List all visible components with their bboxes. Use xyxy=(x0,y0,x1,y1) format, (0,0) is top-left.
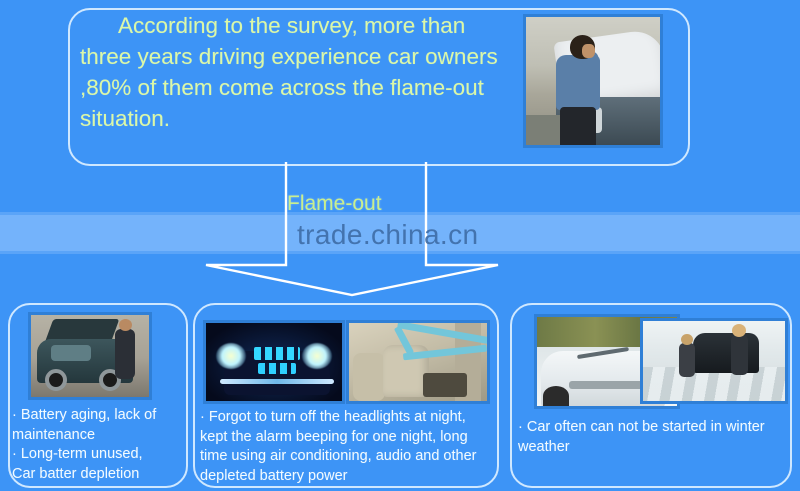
man-at-open-car-hood-photo xyxy=(523,14,663,148)
people-pushing-car-in-snow-photo xyxy=(640,318,788,404)
flame-out-label: Flame-out xyxy=(287,192,382,216)
page-title: According to the survey, more than three… xyxy=(80,10,510,134)
car-headlights-at-night-photo xyxy=(203,320,345,404)
mechanic-inspecting-suv-photo xyxy=(28,312,152,400)
slide-canvas: According to the survey, more than three… xyxy=(0,0,800,491)
cause-text-headlights-left-on: · Forgot to turn off the headlights at n… xyxy=(200,408,496,486)
cause-line: · Battery aging, lack of maintenance xyxy=(12,406,184,445)
cause-line: · Forgot to turn off the headlights at n… xyxy=(200,408,496,486)
cause-text-battery-aging: · Battery aging, lack of maintenance · L… xyxy=(12,406,184,484)
cause-line: · Long-term unused, xyxy=(12,445,184,465)
watermark: trade.china.cn xyxy=(297,219,479,251)
cause-line: · Car often can not be started in winter… xyxy=(518,418,786,457)
cause-line: Car batter depletion xyxy=(12,465,184,485)
car-interior-seatbelts-photo xyxy=(346,320,490,404)
cause-text-winter-weather: · Car often can not be started in winter… xyxy=(518,418,786,457)
